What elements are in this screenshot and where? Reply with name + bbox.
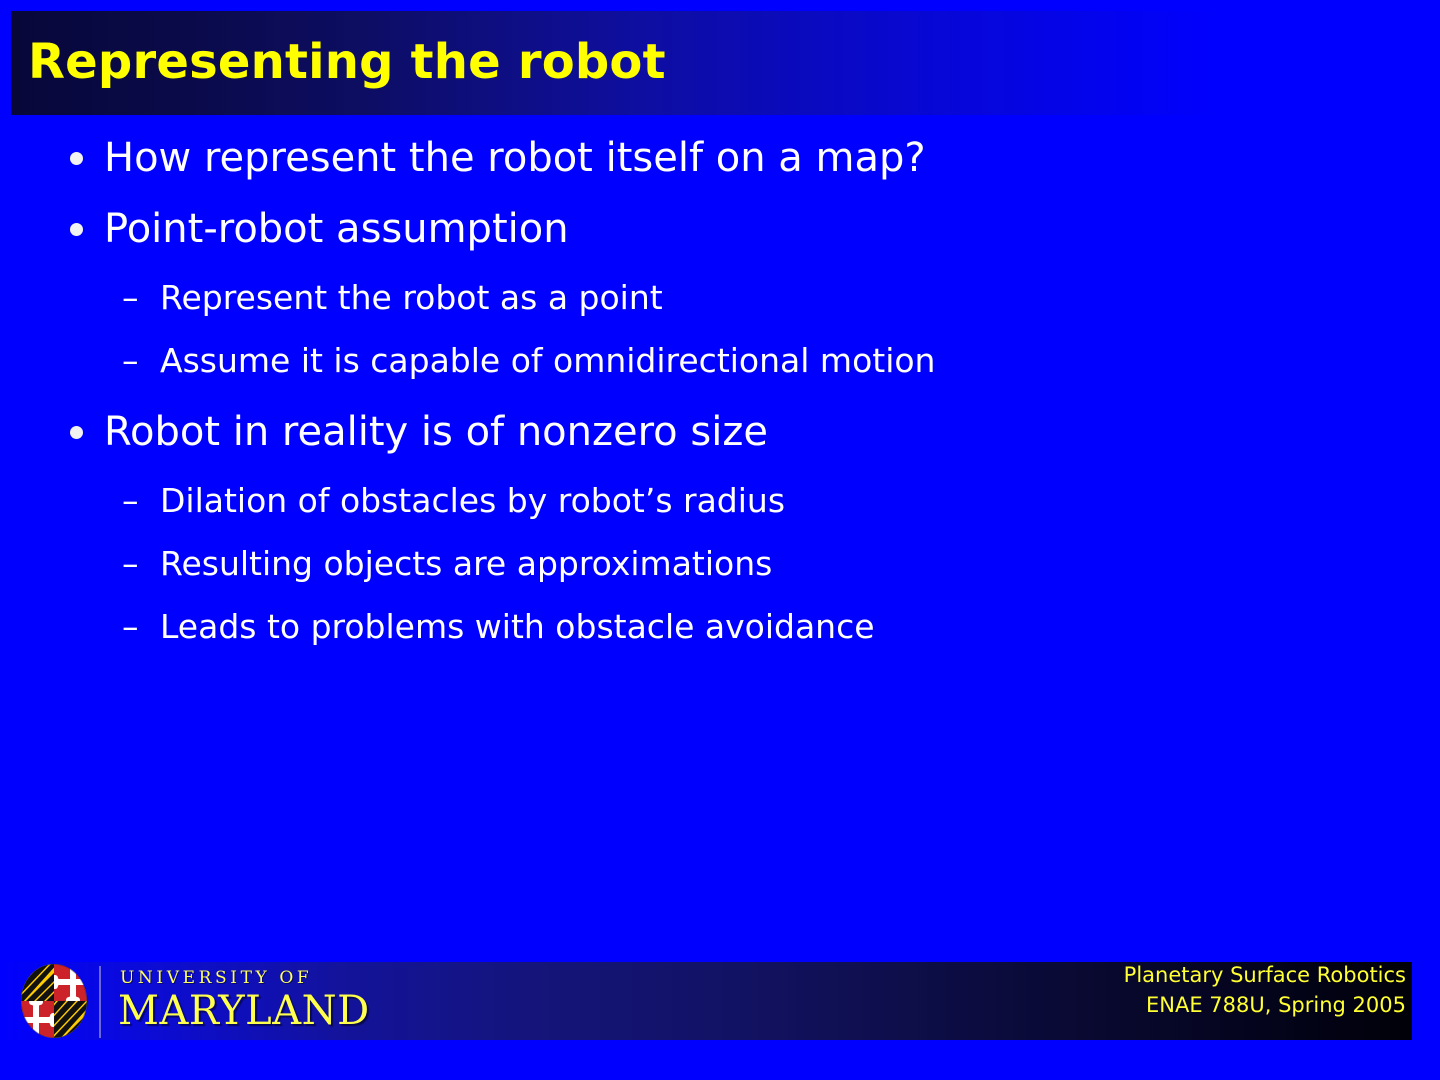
bullet-text: How represent the robot itself on a map?: [104, 133, 926, 183]
bullet-item-level2: – Resulting objects are approximations: [0, 541, 1440, 604]
course-info: Planetary Surface Robotics ENAE 788U, Sp…: [1066, 960, 1406, 1020]
bullet-dash-icon: –: [122, 338, 144, 383]
bullet-dot-icon: [70, 223, 83, 236]
title-bar: Representing the robot: [11, 11, 1261, 115]
bullet-item-level2: – Represent the robot as a point: [0, 275, 1440, 338]
university-of-label: UNIVERSITY OF: [120, 968, 312, 988]
bullet-dot-icon: [70, 152, 83, 165]
university-of-maryland-globe-logo: [18, 963, 90, 1039]
bullet-item-level1: How represent the robot itself on a map?: [0, 133, 1440, 204]
bullet-item-level2: – Assume it is capable of omnidirectiona…: [0, 338, 1440, 401]
bullet-item-level2: – Dilation of obstacles by robot’s radiu…: [0, 478, 1440, 541]
slide: Representing the robot How represent the…: [0, 0, 1440, 1080]
bullet-item-level2: – Leads to problems with obstacle avoida…: [0, 604, 1440, 667]
slide-body: How represent the robot itself on a map?…: [0, 133, 1440, 933]
bullet-text: Leads to problems with obstacle avoidanc…: [160, 604, 875, 649]
bullet-text: Point-robot assumption: [104, 204, 569, 254]
course-title: Planetary Surface Robotics: [1066, 960, 1406, 990]
bullet-item-level1: Robot in reality is of nonzero size: [0, 407, 1440, 478]
bullet-dash-icon: –: [122, 275, 144, 320]
maryland-label: MARYLAND: [118, 988, 370, 1034]
page-title: Representing the robot: [28, 33, 666, 91]
course-code: ENAE 788U, Spring 2005: [1066, 990, 1406, 1020]
bullet-dash-icon: –: [122, 478, 144, 523]
university-wordmark: UNIVERSITY OF MARYLAND: [118, 962, 418, 1040]
logo-divider: [99, 966, 101, 1038]
bullet-text: Dilation of obstacles by robot’s radius: [160, 478, 785, 523]
bullet-text: Robot in reality is of nonzero size: [104, 407, 768, 457]
bullet-dash-icon: –: [122, 604, 144, 649]
bullet-dot-icon: [70, 426, 83, 439]
bullet-text: Assume it is capable of omnidirectional …: [160, 338, 935, 383]
bullet-text: Resulting objects are approximations: [160, 541, 772, 586]
bullet-text: Represent the robot as a point: [160, 275, 663, 320]
bullet-item-level1: Point-robot assumption: [0, 204, 1440, 275]
bullet-dash-icon: –: [122, 541, 144, 586]
